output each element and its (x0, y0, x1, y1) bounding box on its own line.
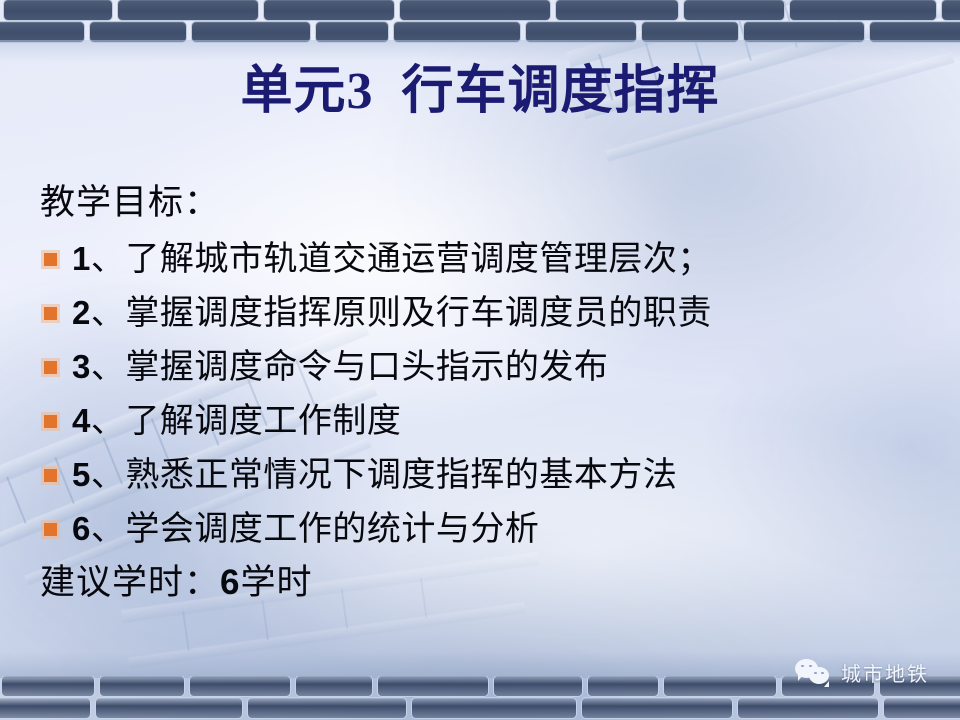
bullet-square-icon (44, 523, 57, 536)
list-item: 2、掌握调度指挥原则及行车调度员的职责 (40, 286, 920, 340)
goal-item-number: 1 (72, 240, 91, 277)
wechat-eye (809, 665, 812, 668)
wechat-eye (814, 672, 817, 675)
goal-item-number: 6 (72, 510, 91, 547)
list-item: 6、学会调度工作的统计与分析 (40, 502, 920, 556)
bullet-square-icon (44, 307, 57, 320)
goal-item-separator: 、 (91, 295, 126, 332)
goal-item-text: 2、掌握调度指挥原则及行车调度员的职责 (72, 296, 712, 331)
goal-item-number: 5 (72, 456, 91, 493)
goal-item-text: 1、了解城市轨道交通运营调度管理层次； (72, 242, 712, 277)
goal-item-text: 3、掌握调度命令与口头指示的发布 (72, 350, 608, 385)
goal-item-body: 学会调度工作的统计与分析 (125, 511, 539, 548)
goal-item-separator: 、 (91, 241, 126, 278)
goal-item-separator: 、 (91, 457, 126, 494)
goal-item-body: 掌握调度命令与口头指示的发布 (125, 349, 608, 386)
bullet-square-icon (44, 253, 57, 266)
list-item: 5、熟悉正常情况下调度指挥的基本方法 (40, 448, 920, 502)
goal-item-number: 2 (72, 294, 91, 331)
wechat-eye (821, 672, 824, 675)
goal-item-number: 4 (72, 402, 91, 439)
list-item: 3、掌握调度命令与口头指示的发布 (40, 340, 920, 394)
suggested-hours-value: 6 (220, 563, 240, 602)
list-item: 1、了解城市轨道交通运营调度管理层次； (40, 232, 920, 286)
goal-item-separator: 、 (91, 511, 126, 548)
wechat-bubble-small (809, 667, 829, 684)
goal-item-text: 5、熟悉正常情况下调度指挥的基本方法 (72, 458, 677, 493)
goal-item-number: 3 (72, 348, 91, 385)
goal-item-separator: 、 (91, 349, 126, 386)
goal-item-body: 了解调度工作制度 (125, 403, 401, 440)
page-title: 单元3 行车调度指挥 (0, 62, 960, 122)
bullet-square-icon (44, 361, 57, 374)
brick-band-top (0, 0, 960, 44)
teaching-goals-heading: 教学目标： (40, 182, 920, 224)
watermark-label: 城市地铁 (841, 658, 929, 687)
goal-item-separator: 、 (91, 403, 126, 440)
goal-item-body: 掌握调度指挥原则及行车调度员的职责 (125, 295, 712, 332)
suggested-hours-unit: 学时 (240, 563, 312, 602)
presentation-slide: 单元3 行车调度指挥 教学目标： 1、了解城市轨道交通运营调度管理层次； 2、掌… (0, 0, 960, 720)
suggested-hours-line: 建议学时：6学时 (40, 562, 920, 604)
goal-item-text: 4、了解调度工作制度 (72, 404, 401, 439)
list-item: 4、了解调度工作制度 (40, 394, 920, 448)
goal-item-text: 6、学会调度工作的统计与分析 (72, 512, 539, 547)
bullet-square-icon (44, 469, 57, 482)
content-body: 教学目标： 1、了解城市轨道交通运营调度管理层次； 2、掌握调度指挥原则及行车调… (40, 182, 920, 604)
goal-item-body: 熟悉正常情况下调度指挥的基本方法 (125, 457, 677, 494)
goal-item-body: 了解城市轨道交通运营调度管理层次； (125, 241, 712, 278)
bullet-square-icon (44, 415, 57, 428)
watermark: 城市地铁 (795, 658, 929, 687)
wechat-icon (795, 659, 833, 687)
suggested-hours-label: 建议学时： (40, 563, 220, 602)
wechat-eye (801, 665, 804, 668)
